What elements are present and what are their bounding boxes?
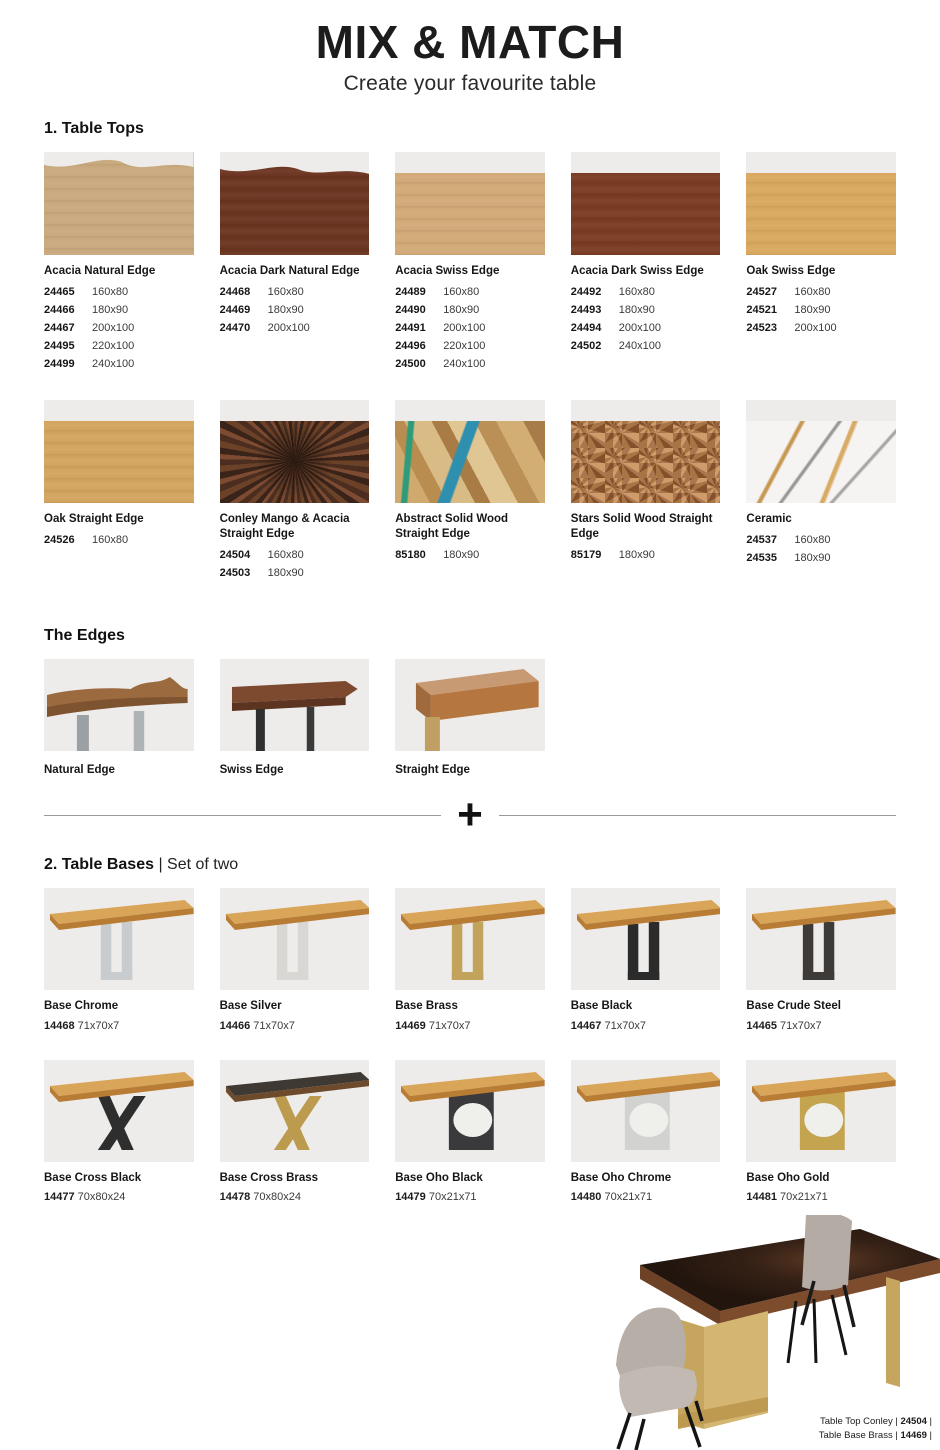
table-base-sku: 14466 [220, 1020, 251, 1032]
variant-sku: 24496 [395, 338, 443, 356]
variant-row: 24537160x80 [746, 532, 896, 550]
table-top-variants: 24492160x80 24493180x90 24494200x100 245… [571, 284, 721, 355]
table-top-card[interactable]: Acacia Swiss Edge 24489160x80 24490180x9… [395, 152, 545, 373]
table-top-name: Acacia Dark Natural Edge [220, 264, 370, 279]
table-top-variants: 24537160x80 24535180x90 [746, 532, 896, 568]
table-top-name: Oak Swiss Edge [746, 264, 896, 279]
variant-row: 24494200x100 [571, 320, 721, 338]
table-top-variants: 24526160x80 [44, 532, 194, 550]
variant-size: 200x100 [92, 322, 134, 334]
table-top-card[interactable]: Ceramic 24537160x80 24535180x90 [746, 400, 896, 583]
table-bases-heading-bold: 2. Table Bases [44, 856, 154, 873]
table-base-image[interactable] [571, 888, 721, 990]
table-top-variants: 24468160x80 24469180x90 24470200x100 [220, 284, 370, 337]
table-base-illustration [44, 1060, 194, 1162]
table-base-name: Base Silver [220, 999, 370, 1014]
table-top-card[interactable]: Acacia Dark Swiss Edge 24492160x80 24493… [571, 152, 721, 373]
table-bases-grid-row-1: Base Chrome 14468 71x70x7 Base Silver 14… [0, 888, 940, 1034]
variant-row: 24504160x80 [220, 547, 370, 565]
table-top-name: Ceramic [746, 512, 896, 527]
table-base-image[interactable] [395, 888, 545, 990]
variant-size: 200x100 [794, 322, 836, 334]
table-base-name: Base Brass [395, 999, 545, 1014]
table-base-illustration [746, 888, 896, 990]
section-heading-the-edges: The Edges [44, 627, 940, 645]
thumb-top-margin [44, 400, 194, 421]
edge-card[interactable]: Swiss Edge [220, 659, 370, 778]
variant-row: 24469180x90 [220, 302, 370, 320]
caption-line1-code: 24504 [900, 1416, 926, 1427]
variant-row: 85179180x90 [571, 547, 721, 565]
table-base-image[interactable] [395, 1060, 545, 1162]
table-base-card[interactable]: Base Black 14467 71x70x7 [571, 888, 721, 1034]
lifestyle-caption: Table Top Conley | 24504 | Table Base Br… [819, 1415, 932, 1444]
variant-size: 180x90 [443, 549, 479, 561]
caption-line1-tail: | [927, 1416, 932, 1427]
table-base-variant: 14480 70x21x71 [571, 1189, 721, 1206]
variant-row: 24527160x80 [746, 284, 896, 302]
table-top-image[interactable] [571, 400, 721, 503]
table-top-image[interactable] [571, 152, 721, 255]
table-base-card[interactable]: Base Oho Black 14479 70x21x71 [395, 1060, 545, 1206]
edge-image[interactable] [395, 659, 545, 751]
variant-sku: 24503 [220, 565, 268, 583]
table-base-size: 71x70x7 [429, 1020, 471, 1032]
variant-row: 24466180x90 [44, 302, 194, 320]
variant-row: 24470200x100 [220, 320, 370, 338]
variant-sku: 24495 [44, 338, 92, 356]
variant-sku: 24493 [571, 302, 619, 320]
table-base-name: Base Crude Steel [746, 999, 896, 1014]
table-base-size: 70x80x24 [253, 1191, 301, 1203]
variant-size: 180x90 [794, 304, 830, 316]
table-base-variant: 14478 70x80x24 [220, 1189, 370, 1206]
variant-size: 240x100 [92, 358, 134, 370]
edge-name: Swiss Edge [220, 763, 370, 778]
variant-sku: 24537 [746, 532, 794, 550]
table-top-variants: 24527160x80 24521180x90 24523200x100 [746, 284, 896, 337]
caption-line2-tail: | [927, 1430, 932, 1441]
variant-sku: 24523 [746, 320, 794, 338]
table-base-name: Base Cross Brass [220, 1171, 370, 1186]
table-top-image[interactable] [44, 400, 194, 503]
table-top-name: Abstract Solid Wood Straight Edge [395, 512, 545, 542]
variant-sku: 85179 [571, 547, 619, 565]
divider-line-left [44, 815, 441, 816]
table-base-name: Base Oho Gold [746, 1171, 896, 1186]
marble-pattern [746, 418, 896, 503]
table-base-image[interactable] [44, 888, 194, 990]
variant-size: 160x80 [92, 534, 128, 546]
variant-sku: 24527 [746, 284, 794, 302]
table-top-name: Acacia Swiss Edge [395, 264, 545, 279]
variant-row: 24535180x90 [746, 550, 896, 568]
table-base-sku: 14478 [220, 1191, 251, 1203]
table-top-variants: 24504160x80 24503180x90 [220, 547, 370, 583]
variant-size: 160x80 [619, 286, 655, 298]
table-tops-grid-row-2: Oak Straight Edge 24526160x80 Conley Man… [0, 400, 940, 583]
table-base-card[interactable]: Base Silver 14466 71x70x7 [220, 888, 370, 1034]
variant-row: 24495220x100 [44, 338, 194, 356]
variant-row: 24492160x80 [571, 284, 721, 302]
table-base-card[interactable]: Base Chrome 14468 71x70x7 [44, 888, 194, 1034]
variant-size: 180x90 [443, 304, 479, 316]
variant-row: 24523200x100 [746, 320, 896, 338]
table-base-image[interactable] [44, 1060, 194, 1162]
plus-divider: + [0, 800, 940, 831]
table-base-sku: 14480 [571, 1191, 602, 1203]
table-base-size: 70x21x71 [429, 1191, 477, 1203]
variant-size: 220x100 [443, 340, 485, 352]
stars-facet-pattern [571, 418, 721, 503]
table-top-image[interactable] [44, 152, 194, 255]
variant-row: 24521180x90 [746, 302, 896, 320]
table-base-card[interactable]: Base Oho Chrome 14480 70x21x71 [571, 1060, 721, 1206]
variant-sku: 24470 [220, 320, 268, 338]
table-base-name: Base Cross Black [44, 1171, 194, 1186]
table-base-image[interactable] [220, 888, 370, 990]
swiss-edge-icon [220, 659, 370, 751]
table-top-card[interactable]: Acacia Natural Edge 24465160x80 24466180… [44, 152, 194, 373]
table-base-illustration [44, 888, 194, 990]
plus-icon: + [457, 800, 483, 831]
variant-sku: 24491 [395, 320, 443, 338]
table-base-size: 71x70x7 [780, 1020, 822, 1032]
straight-edge-icon [395, 659, 545, 751]
variant-sku: 85180 [395, 547, 443, 565]
table-top-name: Oak Straight Edge [44, 512, 194, 527]
table-base-illustration [571, 1060, 721, 1162]
sunburst-pattern [220, 418, 370, 503]
variant-sku: 24535 [746, 550, 794, 568]
variant-size: 240x100 [443, 358, 485, 370]
table-base-image[interactable] [571, 1060, 721, 1162]
variant-sku: 24500 [395, 356, 443, 374]
lifestyle-caption-line-1: Table Top Conley | 24504 | [819, 1415, 932, 1429]
variant-row: 24467200x100 [44, 320, 194, 338]
variant-size: 160x80 [268, 286, 304, 298]
variant-size: 160x80 [92, 286, 128, 298]
table-base-sku: 14467 [571, 1020, 602, 1032]
table-base-sku: 14479 [395, 1191, 426, 1203]
variant-row: 85180180x90 [395, 547, 545, 565]
table-base-variant: 14477 70x80x24 [44, 1189, 194, 1206]
edge-card[interactable]: Natural Edge [44, 659, 194, 778]
table-base-image[interactable] [746, 1060, 896, 1162]
variant-size: 160x80 [268, 549, 304, 561]
variant-row: 24468160x80 [220, 284, 370, 302]
table-base-illustration [395, 1060, 545, 1162]
table-base-size: 71x70x7 [253, 1020, 295, 1032]
table-base-size: 70x21x71 [780, 1191, 828, 1203]
table-top-image[interactable] [746, 152, 896, 255]
variant-row: 24503180x90 [220, 565, 370, 583]
variant-row: 24526160x80 [44, 532, 194, 550]
table-base-sku: 14468 [44, 1020, 75, 1032]
table-base-variant: 14466 71x70x7 [220, 1018, 370, 1035]
variant-size: 200x100 [268, 322, 310, 334]
edge-card[interactable]: Straight Edge [395, 659, 545, 778]
caption-line2-code: 14469 [900, 1430, 926, 1441]
lifestyle-photo: Table Top Conley | 24504 | Table Base Br… [600, 1215, 940, 1450]
section-heading-table-tops: 1. Table Tops [44, 120, 940, 138]
table-base-card[interactable]: Base Oho Gold 14481 70x21x71 [746, 1060, 896, 1206]
table-top-name: Conley Mango & Acacia Straight Edge [220, 512, 370, 542]
caption-line1-text: Table Top Conley | [820, 1416, 900, 1427]
variant-sku: 24489 [395, 284, 443, 302]
table-base-sku: 14469 [395, 1020, 426, 1032]
table-base-variant: 14481 70x21x71 [746, 1189, 896, 1206]
edge-image[interactable] [44, 659, 194, 751]
variant-size: 180x90 [268, 304, 304, 316]
table-base-image[interactable] [746, 888, 896, 990]
page-header: MIX & MATCH Create your favourite table [0, 0, 940, 96]
variant-row: 24499240x100 [44, 356, 194, 374]
variant-row: 24491200x100 [395, 320, 545, 338]
variant-sku: 24469 [220, 302, 268, 320]
table-base-card[interactable]: Base Cross Brass 14478 70x80x24 [220, 1060, 370, 1206]
natural-edge-icon [44, 659, 194, 751]
table-base-size: 70x80x24 [78, 1191, 126, 1203]
edges-grid: Natural Edge Swiss Edge Straight Edge [0, 659, 940, 778]
variant-size: 200x100 [619, 322, 661, 334]
variant-sku: 24492 [571, 284, 619, 302]
edge-name: Straight Edge [395, 763, 545, 778]
table-top-name: Acacia Dark Swiss Edge [571, 264, 721, 279]
table-base-sku: 14481 [746, 1191, 777, 1203]
table-base-card[interactable]: Base Brass 14469 71x70x7 [395, 888, 545, 1034]
table-top-card[interactable]: Oak Swiss Edge 24527160x80 24521180x90 2… [746, 152, 896, 373]
table-top-name: Acacia Natural Edge [44, 264, 194, 279]
table-base-name: Base Black [571, 999, 721, 1014]
table-base-name: Base Oho Black [395, 1171, 545, 1186]
table-base-size: 71x70x7 [604, 1020, 646, 1032]
variant-sku: 24499 [44, 356, 92, 374]
variant-size: 160x80 [443, 286, 479, 298]
table-bases-heading-light: | Set of two [158, 856, 238, 873]
table-top-image[interactable] [220, 152, 370, 255]
table-base-size: 70x21x71 [604, 1191, 652, 1203]
table-top-variants: 24489160x80 24490180x90 24491200x100 244… [395, 284, 545, 373]
thumb-top-margin [571, 152, 721, 173]
table-base-size: 71x70x7 [78, 1020, 120, 1032]
table-base-sku: 14465 [746, 1020, 777, 1032]
table-base-card[interactable]: Base Crude Steel 14465 71x70x7 [746, 888, 896, 1034]
variant-size: 160x80 [794, 286, 830, 298]
table-top-card[interactable]: Stars Solid Wood Straight Edge 85179180x… [571, 400, 721, 583]
table-base-variant: 14465 71x70x7 [746, 1018, 896, 1035]
table-bases-grid-row-2: Base Cross Black 14477 70x80x24 Base Cro… [0, 1060, 940, 1206]
table-base-sku: 14477 [44, 1191, 75, 1203]
variant-row: 24465160x80 [44, 284, 194, 302]
table-base-variant: 14479 70x21x71 [395, 1189, 545, 1206]
table-base-illustration [746, 1060, 896, 1162]
variant-row: 24496220x100 [395, 338, 545, 356]
table-base-image[interactable] [220, 1060, 370, 1162]
variant-size: 180x90 [92, 304, 128, 316]
table-base-illustration [571, 888, 721, 990]
table-base-illustration [220, 888, 370, 990]
variant-sku: 24504 [220, 547, 268, 565]
variant-row: 24490180x90 [395, 302, 545, 320]
table-top-card[interactable]: Oak Straight Edge 24526160x80 [44, 400, 194, 583]
natural-edge-profile-icon [220, 152, 370, 255]
table-base-name: Base Oho Chrome [571, 1171, 721, 1186]
table-top-card[interactable]: Acacia Dark Natural Edge 24468160x80 244… [220, 152, 370, 373]
variant-sku: 24526 [44, 532, 92, 550]
variant-size: 180x90 [794, 552, 830, 564]
table-top-variants: 85180180x90 [395, 547, 545, 565]
table-top-variants: 85179180x90 [571, 547, 721, 565]
abstract-plank-pattern [395, 418, 545, 503]
table-top-image[interactable] [220, 400, 370, 503]
table-base-name: Base Chrome [44, 999, 194, 1014]
variant-sku: 24494 [571, 320, 619, 338]
variant-row: 24502240x100 [571, 338, 721, 356]
table-base-illustration [220, 1060, 370, 1162]
variant-size: 200x100 [443, 322, 485, 334]
table-base-variant: 14467 71x70x7 [571, 1018, 721, 1035]
lifestyle-caption-line-2: Table Base Brass | 14469 | [819, 1429, 932, 1443]
thumb-top-margin [395, 152, 545, 173]
variant-size: 240x100 [619, 340, 661, 352]
table-base-variant: 14468 71x70x7 [44, 1018, 194, 1035]
edge-image[interactable] [220, 659, 370, 751]
variant-sku: 24468 [220, 284, 268, 302]
table-top-variants: 24465160x80 24466180x90 24467200x100 244… [44, 284, 194, 373]
table-base-illustration [395, 888, 545, 990]
table-top-card[interactable]: Conley Mango & Acacia Straight Edge 2450… [220, 400, 370, 583]
variant-size: 180x90 [619, 304, 655, 316]
variant-sku: 24502 [571, 338, 619, 356]
table-tops-grid-row-1: Acacia Natural Edge 24465160x80 24466180… [0, 152, 940, 373]
variant-size: 180x90 [268, 567, 304, 579]
variant-size: 160x80 [794, 534, 830, 546]
edge-name: Natural Edge [44, 763, 194, 778]
variant-size: 220x100 [92, 340, 134, 352]
variant-size: 180x90 [619, 549, 655, 561]
table-top-image[interactable] [395, 152, 545, 255]
variant-sku: 24465 [44, 284, 92, 302]
caption-line2-text: Table Base Brass | [819, 1430, 901, 1441]
page-title: MIX & MATCH [0, 18, 940, 66]
variant-row: 24493180x90 [571, 302, 721, 320]
natural-edge-profile-icon [44, 152, 194, 255]
table-top-image[interactable] [746, 400, 896, 503]
table-base-variant: 14469 71x70x7 [395, 1018, 545, 1035]
variant-sku: 24467 [44, 320, 92, 338]
table-top-name: Stars Solid Wood Straight Edge [571, 512, 721, 542]
table-top-card[interactable]: Abstract Solid Wood Straight Edge 851801… [395, 400, 545, 583]
thumb-top-margin [746, 152, 896, 173]
variant-sku: 24490 [395, 302, 443, 320]
table-base-card[interactable]: Base Cross Black 14477 70x80x24 [44, 1060, 194, 1206]
variant-row: 24489160x80 [395, 284, 545, 302]
section-heading-table-bases: 2. Table Bases | Set of two [44, 856, 940, 874]
divider-line-right [499, 815, 896, 816]
variant-sku: 24521 [746, 302, 794, 320]
variant-row: 24500240x100 [395, 356, 545, 374]
table-top-image[interactable] [395, 400, 545, 503]
variant-sku: 24466 [44, 302, 92, 320]
page-subtitle: Create your favourite table [0, 72, 940, 96]
